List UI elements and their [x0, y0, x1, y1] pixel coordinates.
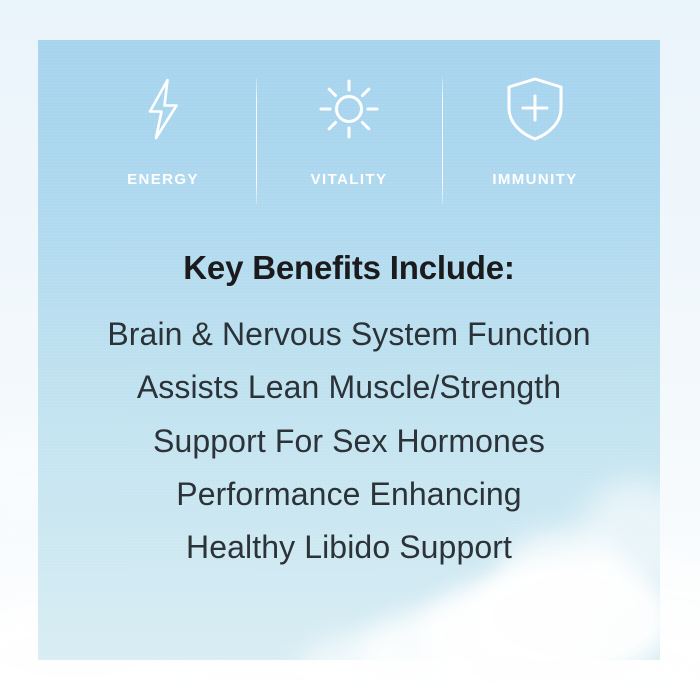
benefit-line: Performance Enhancing: [38, 468, 660, 521]
pillar-label-vitality: VITALITY: [311, 172, 388, 187]
benefit-line: Assists Lean Muscle/Strength: [38, 361, 660, 414]
shield-plus-icon: [505, 72, 565, 146]
panel-cloud: [360, 610, 510, 660]
benefit-line: Healthy Libido Support: [38, 521, 660, 574]
panel-cloud: [300, 634, 430, 660]
pillar-label-immunity: IMMUNITY: [492, 172, 577, 187]
benefit-line: Support For Sex Hormones: [38, 415, 660, 468]
benefits-text-block: Key Benefits Include: Brain & Nervous Sy…: [38, 250, 660, 574]
pillar-label-energy: ENERGY: [127, 172, 199, 187]
lightning-bolt-icon: [141, 72, 185, 146]
benefit-line: Brain & Nervous System Function: [38, 308, 660, 361]
promo-card: ENERGY VITAL: [0, 0, 700, 700]
panel-cloud: [420, 580, 590, 660]
benefit-pillar-vitality: VITALITY: [257, 72, 442, 212]
benefit-pillar-energy: ENERGY: [71, 72, 256, 212]
icon-strip: ENERGY VITAL: [38, 72, 660, 212]
sun-icon: [318, 72, 380, 146]
benefits-panel: ENERGY VITAL: [38, 40, 660, 660]
benefits-heading: Key Benefits Include:: [38, 250, 660, 286]
benefit-pillar-immunity: IMMUNITY: [443, 72, 628, 212]
